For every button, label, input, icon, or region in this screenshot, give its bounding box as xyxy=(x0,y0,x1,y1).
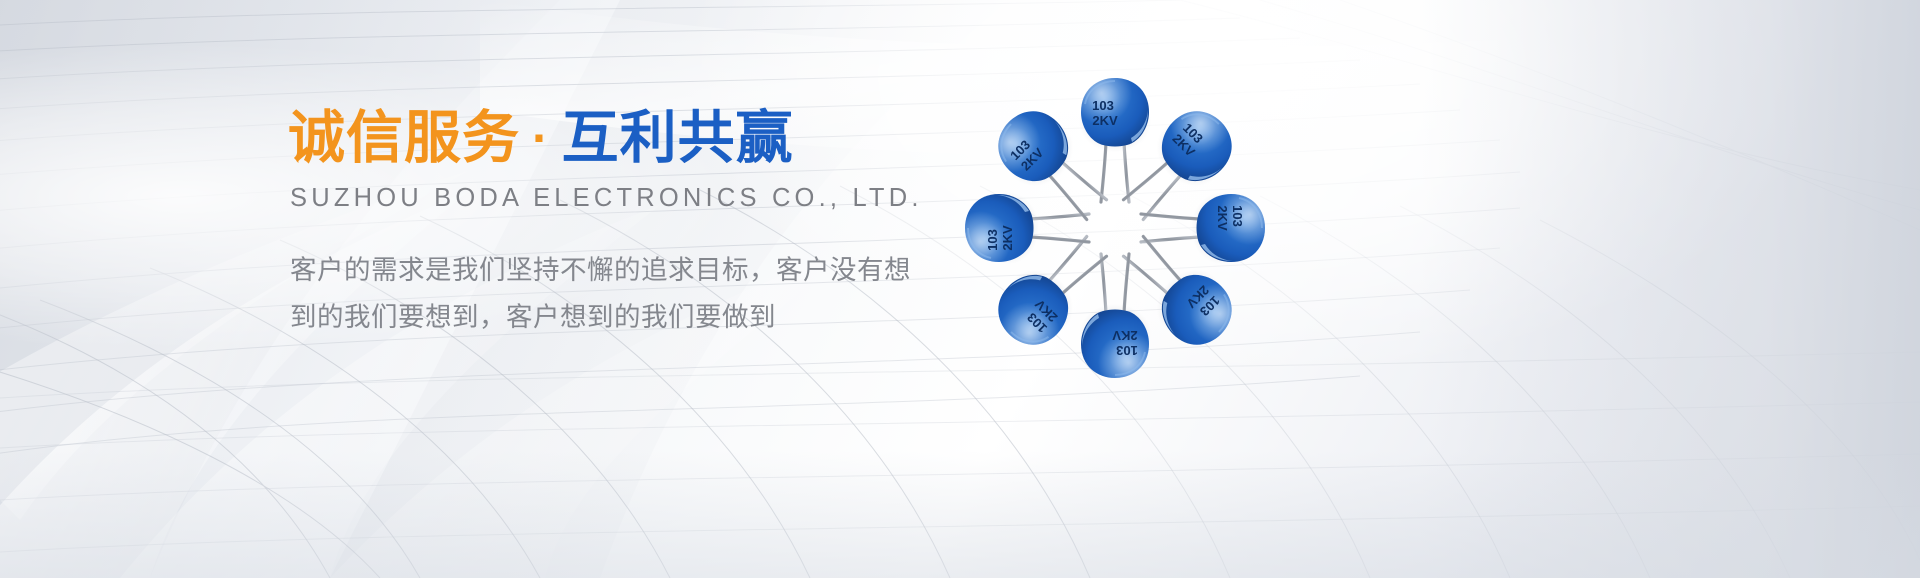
banner-headline: 诚信服务·互利共赢 xyxy=(288,108,948,170)
hero-banner: 诚信服务·互利共赢 SUZHOU BODA ELECTRONICS CO., L… xyxy=(0,0,1920,578)
banner-text-block: 诚信服务·互利共赢 SUZHOU BODA ELECTRONICS CO., L… xyxy=(288,108,948,341)
description-line-1: 客户的需求是我们坚持不懈的追求目标，客户没有想 xyxy=(290,247,930,294)
headline-blue-text: 互利共赢 xyxy=(562,106,794,170)
cap-mark-code: 103 xyxy=(1116,343,1138,358)
capacitor-cluster-svg: 103 2KV 103 2KV 103 2KV 103 2KV 103 2K xyxy=(930,38,1300,418)
cap-mark-voltage: 2KV xyxy=(1000,225,1015,251)
cap-mark-voltage: 2KV xyxy=(1112,328,1138,343)
headline-separator-dot: · xyxy=(520,110,562,166)
cap-mark-code: 103 xyxy=(1230,205,1245,227)
banner-subtitle: SUZHOU BODA ELECTRONICS CO., LTD. xyxy=(290,184,948,213)
cap-mark-code: 103 xyxy=(1092,98,1114,113)
cap-mark-voltage: 2KV xyxy=(1092,113,1118,128)
cap-mark-code: 103 xyxy=(985,229,1000,251)
cap-mark-voltage: 2KV xyxy=(1215,205,1230,231)
description-line-2: 到的我们要想到，客户想到的我们要做到 xyxy=(290,294,930,341)
background-vignette-bottom xyxy=(0,451,1920,578)
product-image-capacitor-cluster: 103 2KV 103 2KV 103 2KV 103 2KV 103 2K xyxy=(930,38,1300,418)
headline-orange-text: 诚信服务 xyxy=(288,106,520,170)
background-vignette-right xyxy=(1421,0,1920,578)
banner-description: 客户的需求是我们坚持不懈的追求目标，客户没有想 到的我们要想到，客户想到的我们要… xyxy=(290,247,930,341)
